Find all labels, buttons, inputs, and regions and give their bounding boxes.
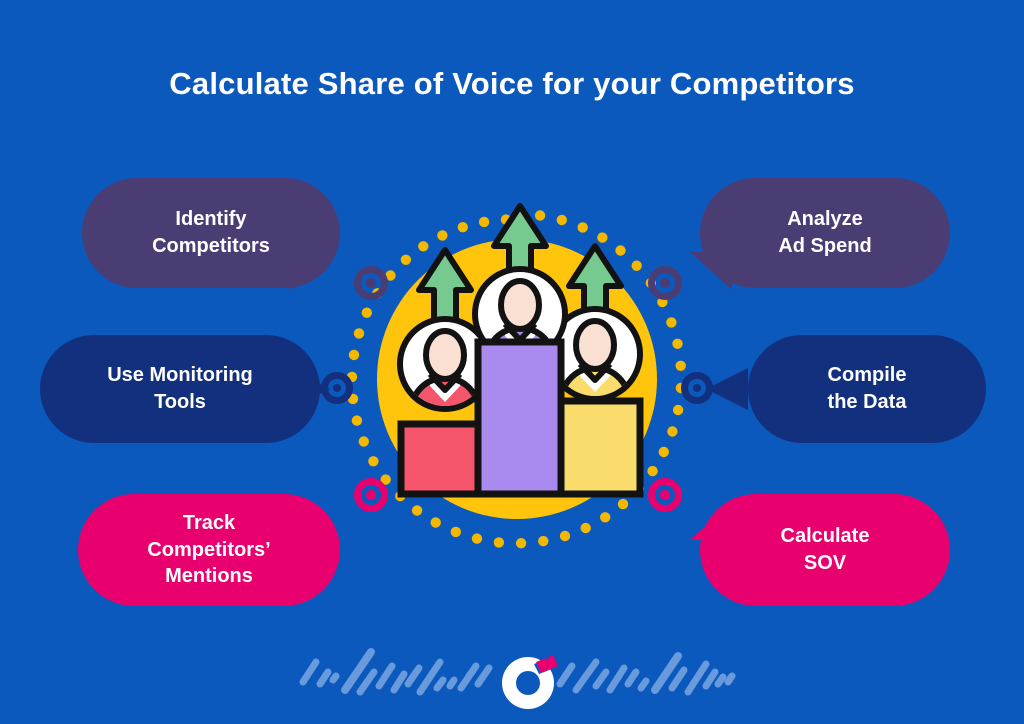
callout-label: Compile the Data bbox=[828, 362, 907, 415]
callout-use-monitoring-tools[interactable]: Use Monitoring Tools bbox=[40, 335, 320, 443]
page-title: Calculate Share of Voice for your Compet… bbox=[0, 66, 1024, 102]
callout-analyze-ad-spend[interactable]: Analyze Ad Spend bbox=[700, 178, 950, 288]
callout-tail-identify-competitors bbox=[292, 252, 334, 290]
connector-dot-core bbox=[693, 384, 701, 392]
bar-purple bbox=[478, 342, 561, 494]
connector-dot-analyze-ad-spend[interactable] bbox=[648, 266, 682, 300]
avatar-head-purple bbox=[501, 281, 539, 329]
c-logo bbox=[501, 655, 558, 709]
callout-label: Use Monitoring Tools bbox=[107, 362, 253, 415]
callout-label: Identify Competitors bbox=[152, 206, 270, 259]
connector-dot-use-monitoring-tools[interactable] bbox=[321, 372, 353, 404]
callout-tail-calculate-sov bbox=[690, 502, 732, 540]
slanted-tick-marks-left bbox=[303, 652, 489, 692]
footer bbox=[0, 640, 1024, 724]
connector-dot-core bbox=[660, 278, 669, 287]
connector-dot-core bbox=[660, 490, 669, 499]
callout-tail-analyze-ad-spend bbox=[690, 252, 732, 290]
callout-label: Analyze Ad Spend bbox=[778, 206, 871, 259]
connector-dot-calculate-sov[interactable] bbox=[648, 478, 682, 512]
connector-dot-compile-the-data[interactable] bbox=[681, 372, 713, 404]
callout-tail-track-competitors-mentions bbox=[292, 502, 334, 540]
avatar-head-yellow bbox=[576, 321, 614, 369]
callout-label: Track Competitors’ Mentions bbox=[147, 510, 270, 590]
connector-dot-identify-competitors[interactable] bbox=[354, 266, 388, 300]
center-illustration bbox=[338, 198, 698, 560]
callout-label: Calculate SOV bbox=[781, 523, 870, 576]
connector-dot-track-competitors-mentions[interactable] bbox=[354, 478, 388, 512]
infographic-canvas: Calculate Share of Voice for your Compet… bbox=[0, 0, 1024, 724]
connector-dot-core bbox=[333, 384, 341, 392]
slanted-tick-marks-right bbox=[560, 656, 732, 692]
avatar-head-red bbox=[426, 331, 464, 379]
callout-compile-the-data[interactable]: Compile the Data bbox=[748, 335, 986, 443]
connector-dot-core bbox=[366, 278, 375, 287]
callout-calculate-sov[interactable]: Calculate SOV bbox=[700, 494, 950, 606]
connector-dot-core bbox=[366, 490, 375, 499]
